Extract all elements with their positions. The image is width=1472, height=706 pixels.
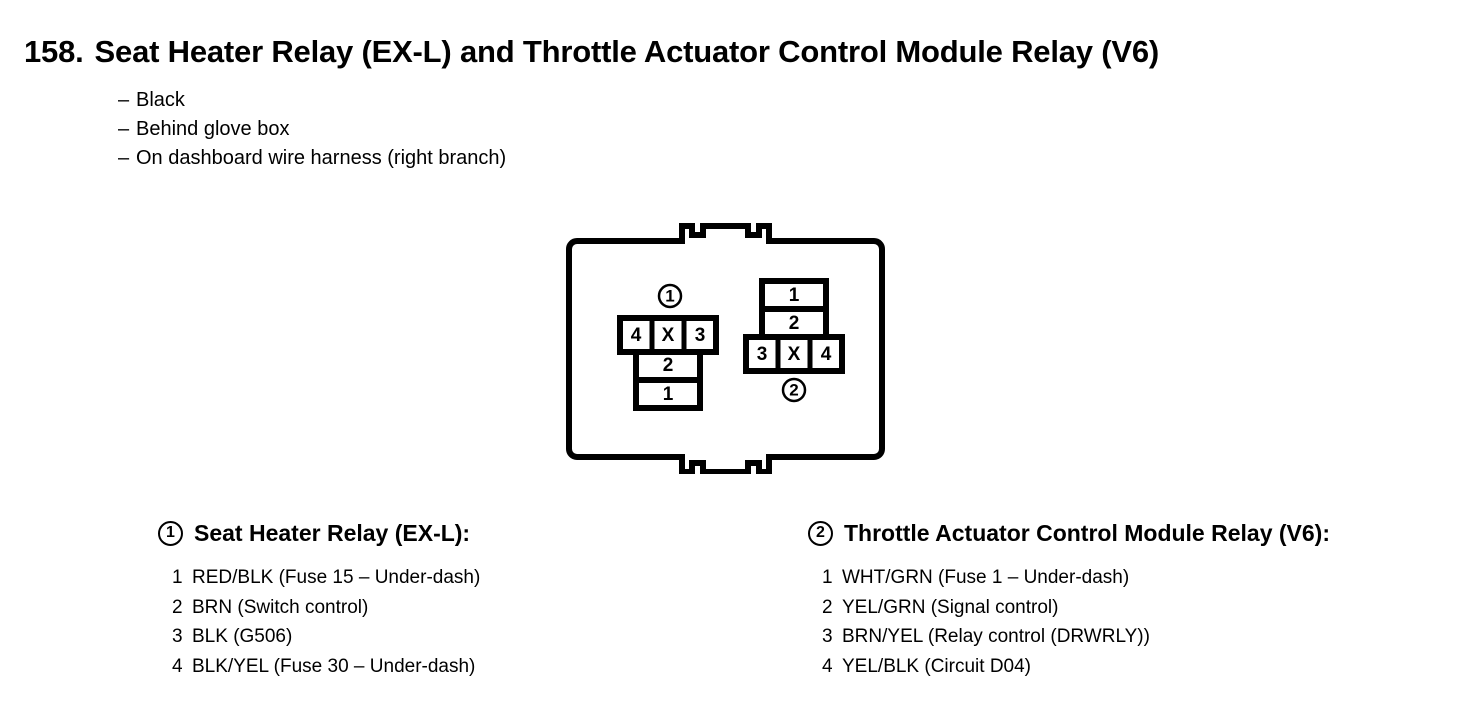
legend-item: 1RED/BLK (Fuse 15 – Under-dash) [172,563,480,593]
legend-item-text: BLK/YEL (Fuse 30 – Under-dash) [192,656,475,677]
page-title: 158.Seat Heater Relay (EX-L) and Throttl… [24,34,1159,70]
note-item: –On dashboard wire harness (right branch… [118,144,506,173]
note-text: On dashboard wire harness (right branch) [136,147,506,169]
legend-1-marker: 1 [158,521,183,546]
legend-item: 2YEL/GRN (Signal control) [822,593,1330,623]
legend-item-index: 1 [172,563,192,593]
relay1-pin-1: 1 [663,384,674,405]
relay1-pin-4: 4 [631,325,642,346]
note-dash: – [118,86,136,115]
legend-item-index: 2 [172,593,192,623]
note-dash: – [118,144,136,173]
connector-diagram: 1 4 X 3 2 1 1 2 3 X [560,208,896,474]
relay2-pin-1: 1 [789,285,800,306]
section-number: 158. [24,34,84,70]
legend-item: 2BRN (Switch control) [172,593,480,623]
relay1-marker-label: 1 [665,286,674,305]
relay1-pin-2: 2 [663,355,674,376]
legend-item-index: 2 [822,593,842,623]
legend-item-text: BRN/YEL (Relay control (DRWRLY)) [842,626,1150,647]
legend-item: 3BLK (G506) [172,622,480,652]
legend-item-text: WHT/GRN (Fuse 1 – Under-dash) [842,567,1129,588]
legend-item: 4YEL/BLK (Circuit D04) [822,652,1330,682]
relay2-pin-2: 2 [789,313,800,334]
legend-relay-2: 2 Throttle Actuator Control Module Relay… [808,516,1330,681]
relay2-pin-4: 4 [821,344,832,365]
legend-2-header: 2 Throttle Actuator Control Module Relay… [808,516,1330,550]
legend-item-index: 4 [822,652,842,682]
legend-item-index: 3 [172,622,192,652]
legend-item: 4BLK/YEL (Fuse 30 – Under-dash) [172,652,480,682]
relay2-marker: 2 [783,379,805,401]
legend-2-marker: 2 [808,521,833,546]
legend-item-text: RED/BLK (Fuse 15 – Under-dash) [192,567,480,588]
note-text: Black [136,89,185,111]
legend-item-text: BLK (G506) [192,626,292,647]
relay2-pin-x: X [788,344,801,365]
legend-1-header: 1 Seat Heater Relay (EX-L): [158,516,480,550]
legend-item: 1WHT/GRN (Fuse 1 – Under-dash) [822,563,1330,593]
legend-item-text: YEL/GRN (Signal control) [842,597,1058,618]
legend-1-title: Seat Heater Relay (EX-L): [194,520,470,547]
note-text: Behind glove box [136,118,289,140]
note-item: –Black [118,86,506,115]
legend-2-title: Throttle Actuator Control Module Relay (… [844,520,1330,547]
relay2-pin-3: 3 [757,344,768,365]
relay1-pin-3: 3 [695,325,706,346]
notes-list: –Black –Behind glove box –On dashboard w… [118,86,506,173]
section-title: Seat Heater Relay (EX-L) and Throttle Ac… [95,34,1159,69]
relay2-pin-block: 1 2 3 X 4 [746,281,842,371]
legend-item-index: 1 [822,563,842,593]
relay1-marker: 1 [659,285,681,307]
legend-item-index: 3 [822,622,842,652]
legend-2-items: 1WHT/GRN (Fuse 1 – Under-dash) 2YEL/GRN … [822,563,1330,681]
legend-item-text: BRN (Switch control) [192,597,368,618]
legend-relay-1: 1 Seat Heater Relay (EX-L): 1RED/BLK (Fu… [158,516,480,681]
note-item: –Behind glove box [118,115,506,144]
relay1-pin-block: 4 X 3 2 1 [620,318,716,408]
legend-item-text: YEL/BLK (Circuit D04) [842,656,1031,677]
legend-item: 3BRN/YEL (Relay control (DRWRLY)) [822,622,1330,652]
relay1-pin-x: X [662,325,675,346]
legend-1-items: 1RED/BLK (Fuse 15 – Under-dash) 2BRN (Sw… [172,563,480,681]
legend-item-index: 4 [172,652,192,682]
relay2-marker-label: 2 [789,380,798,399]
note-dash: – [118,115,136,144]
